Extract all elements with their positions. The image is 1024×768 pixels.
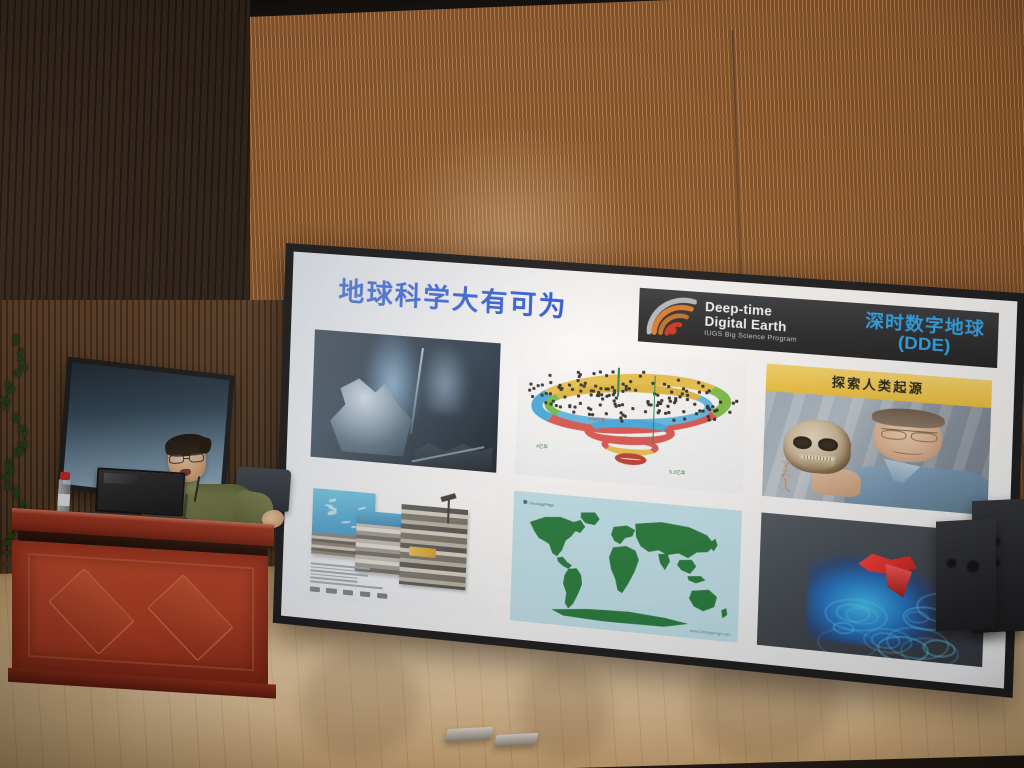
spiral-fauna-dot — [589, 394, 592, 397]
spiral-fauna-dot — [599, 387, 602, 390]
spiral-fauna-dot — [713, 409, 716, 412]
spiral-fauna-dot — [713, 417, 716, 420]
presentation-slide: 地球科学大有可为 Deep-time Digital Earth IUGS Bi… — [281, 252, 1017, 689]
spiral-fauna-dot — [612, 370, 615, 373]
spiral-fauna-dot — [656, 411, 659, 414]
continent-shape — [529, 514, 586, 558]
legend-swatch — [343, 590, 353, 596]
spiral-fauna-dot — [677, 378, 680, 381]
spiral-fauna-dot — [708, 389, 711, 392]
spiral-fauna-dot — [572, 411, 575, 414]
legend-swatch — [326, 588, 336, 594]
spiral-fauna-dot — [557, 385, 560, 388]
spiral-fauna-dot — [611, 386, 614, 389]
drilling-derrick-icon — [438, 494, 461, 524]
legend-swatch — [377, 593, 387, 599]
spiral-fauna-dot — [674, 399, 677, 402]
bottle-label — [58, 494, 71, 506]
spiral-fauna-dot — [728, 411, 731, 414]
oil-accumulation — [409, 546, 436, 558]
spiral-fauna-dot — [642, 371, 645, 374]
block-diagram-legend — [309, 562, 395, 603]
spiral-fauna-dot — [577, 375, 580, 378]
world-map-continents — [517, 499, 735, 634]
spiral-fauna-dot — [681, 392, 684, 395]
spiral-fauna-dot — [627, 387, 630, 390]
legend-swatch — [360, 592, 370, 598]
continent-shape — [688, 575, 706, 584]
panel-geologic-time-spiral: 2.52亿年 4亿年 5.3亿年 — [515, 345, 747, 494]
spiral-fauna-dot — [612, 393, 615, 396]
projection-screen: 地球科学大有可为 Deep-time Digital Earth IUGS Bi… — [273, 243, 1024, 698]
marine-fauna-icon — [341, 521, 350, 523]
spiral-fauna-dot — [549, 381, 552, 384]
continent-shape — [557, 556, 573, 569]
spiral-fauna-dot — [698, 391, 701, 394]
marine-fauna-icon — [329, 499, 336, 502]
spiral-fauna-dot — [646, 400, 649, 403]
spiral-fauna-dot — [573, 405, 576, 408]
spiral-fauna-dot — [656, 393, 659, 396]
spiral-fauna-dot — [668, 396, 671, 399]
spiral-fauna-dot — [606, 388, 609, 391]
pa-speaker-short — [936, 518, 996, 631]
spiral-fauna-dot — [544, 392, 547, 395]
spiral-fauna-dot — [531, 395, 534, 398]
spiral-fauna-dot — [708, 418, 711, 421]
dna-helix-icon — [771, 459, 801, 493]
spiral-fauna-dot — [685, 389, 688, 392]
podium-body — [12, 540, 268, 688]
skull-eye-socket — [793, 436, 812, 449]
deep-time-digital-earth-logo — [647, 295, 697, 340]
spiral-fauna-dot — [707, 415, 710, 418]
continent-shape — [722, 607, 728, 618]
continent-shape — [552, 604, 689, 630]
bottle-cap — [60, 472, 70, 481]
legend-swatch — [309, 587, 319, 593]
podium-diamond-motif — [147, 574, 233, 661]
continent-shape — [689, 588, 717, 613]
slide-image-grid: 2.52亿年 4亿年 5.3亿年 探索人类起源 — [305, 329, 992, 667]
spiral-fauna-dot — [701, 384, 704, 387]
spiral-fauna-dot — [667, 384, 670, 387]
spiral-fauna-dot — [701, 410, 704, 413]
spiral-fauna-dot — [532, 387, 535, 390]
spiral-fauna-dot — [549, 374, 552, 377]
continent-shape — [658, 552, 671, 570]
skull-jaw — [799, 454, 836, 470]
dde-english-text: Deep-time Digital Earth IUGS Big Science… — [704, 301, 798, 344]
spiral-fauna-dot — [667, 411, 670, 414]
continent-shape — [635, 520, 717, 561]
panel-human-origins: 探索人类起源 — [762, 363, 992, 515]
water-bottle — [57, 479, 71, 514]
time-spiral-label: 5.3亿年 — [669, 469, 685, 477]
continent-shape — [611, 524, 635, 545]
spiral-fauna-dot — [587, 407, 590, 410]
spiral-fauna-dot — [564, 395, 567, 398]
marine-fauna-icon — [327, 510, 336, 515]
spiral-fauna-dot — [719, 400, 722, 403]
panel-world-map: GeologyPage www.GeologyPage.com — [510, 491, 742, 643]
spiral-fauna-dot — [536, 384, 539, 387]
spiral-fauna-dot — [568, 384, 571, 387]
dde-chinese-text: 深时数字地球 (DDE) — [864, 312, 989, 359]
spiral-fauna-dot — [615, 397, 618, 400]
continent-shape — [711, 538, 719, 552]
panel-hydrothermal-vent — [311, 329, 501, 472]
podium-diamond-motif — [48, 567, 134, 654]
spiral-fauna-dot — [705, 391, 708, 394]
spiral-fauna-dot — [541, 384, 544, 387]
spiral-fauna-dot — [629, 380, 632, 383]
spiral-fauna-dot — [631, 407, 634, 410]
podium-panel — [28, 553, 254, 671]
spiral-fauna-dot — [656, 403, 659, 406]
continent-shape — [608, 544, 639, 594]
time-spiral-label: 4亿年 — [536, 444, 548, 451]
panel-sedimentary-blocks — [305, 473, 495, 619]
laptop — [95, 467, 186, 520]
presentation-photo: 地球科学大有可为 Deep-time Digital Earth IUGS Bi… — [0, 0, 1024, 768]
laptop-lid — [95, 467, 186, 516]
brand-dot-icon — [523, 500, 527, 504]
speaker-driver — [966, 559, 980, 574]
spiral-fauna-dot — [643, 410, 646, 413]
marine-fauna-icon — [329, 505, 337, 510]
spiral-fauna-dot — [528, 388, 531, 391]
spiral-fauna-dot — [735, 400, 738, 403]
human-origins-photo — [762, 391, 991, 516]
spiral-fauna-dot — [593, 372, 596, 375]
spiral-fauna-dot — [605, 394, 608, 397]
skull-eye-socket — [818, 438, 837, 451]
spiral-fauna-dot — [732, 401, 735, 404]
spiral-fauna-dot — [686, 398, 689, 401]
speaker-driver — [946, 558, 957, 570]
spiral-fauna-dot — [529, 382, 532, 385]
dde-brand-bar: Deep-time Digital Earth IUGS Big Science… — [638, 288, 999, 368]
spiral-fauna-dot — [620, 420, 623, 423]
slide-title: 地球科学大有可为 — [338, 271, 568, 325]
vent-plume-secondary — [419, 340, 470, 415]
spiral-fauna-dot — [600, 393, 603, 396]
continent-shape — [581, 511, 600, 525]
continent-shape — [563, 567, 583, 610]
podium — [12, 508, 274, 696]
spiral-fauna-dot — [621, 403, 624, 406]
spiral-fauna-dot — [682, 387, 685, 390]
time-spiral-label: 2.52亿年 — [589, 415, 606, 423]
spiral-fauna-dot — [599, 370, 602, 373]
spiral-fauna-dot — [664, 412, 667, 415]
continent-shape — [677, 558, 697, 574]
spiral-fauna-dot — [568, 405, 571, 408]
spiral-fauna-dot — [578, 402, 581, 405]
